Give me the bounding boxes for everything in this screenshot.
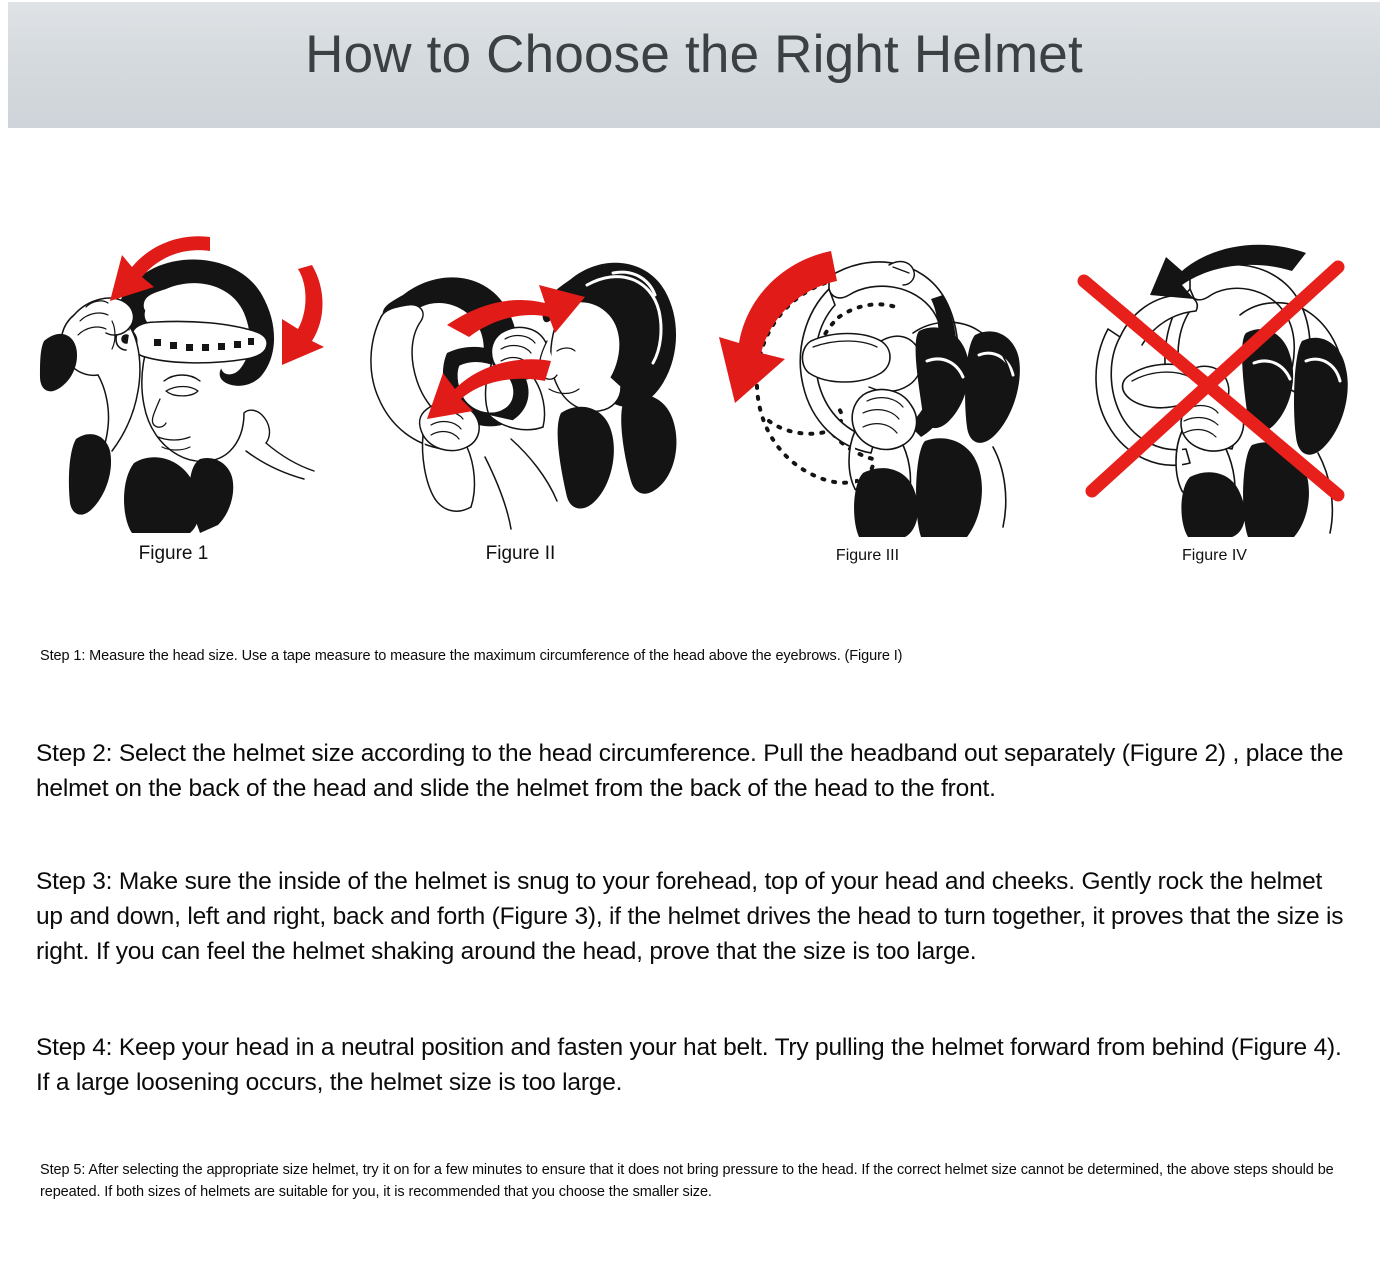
header-band: How to Choose the Right Helmet — [8, 2, 1380, 128]
figure-cell-2: Figure II — [347, 175, 694, 565]
red-curved-arrow-right — [282, 265, 324, 365]
helmet-pull-off-forbidden-icon — [1070, 237, 1360, 537]
steps-list: Step 1: Measure the head size. Use a tap… — [0, 580, 1388, 1218]
helmet-headband-pull-icon — [351, 233, 691, 533]
figure-cell-4: Figure IV — [1041, 175, 1388, 565]
page-title: How to Choose the Right Helmet — [305, 27, 1083, 83]
head-measuring-tape-icon — [14, 223, 334, 533]
step-2-text: Step 2: Select the helmet size according… — [0, 737, 1388, 807]
figure-caption-3: Figure III — [836, 547, 899, 565]
figure-cell-1: Figure 1 — [0, 175, 347, 565]
figure-cell-3: Figure III — [694, 175, 1041, 565]
helmet-rock-test-icon — [713, 237, 1023, 537]
step-1-text: Step 1: Measure the head size. Use a tap… — [0, 645, 1388, 667]
figure-caption-2: Figure II — [486, 543, 556, 565]
step-5-text: Step 5: After selecting the appropriate … — [0, 1159, 1388, 1204]
figures-row: Figure 1 — [0, 175, 1388, 565]
figure-caption-4: Figure IV — [1182, 547, 1247, 565]
figure-caption-1: Figure 1 — [139, 543, 209, 565]
step-4-text: Step 4: Keep your head in a neutral posi… — [0, 1031, 1388, 1101]
step-3-text: Step 3: Make sure the inside of the helm… — [0, 865, 1388, 969]
